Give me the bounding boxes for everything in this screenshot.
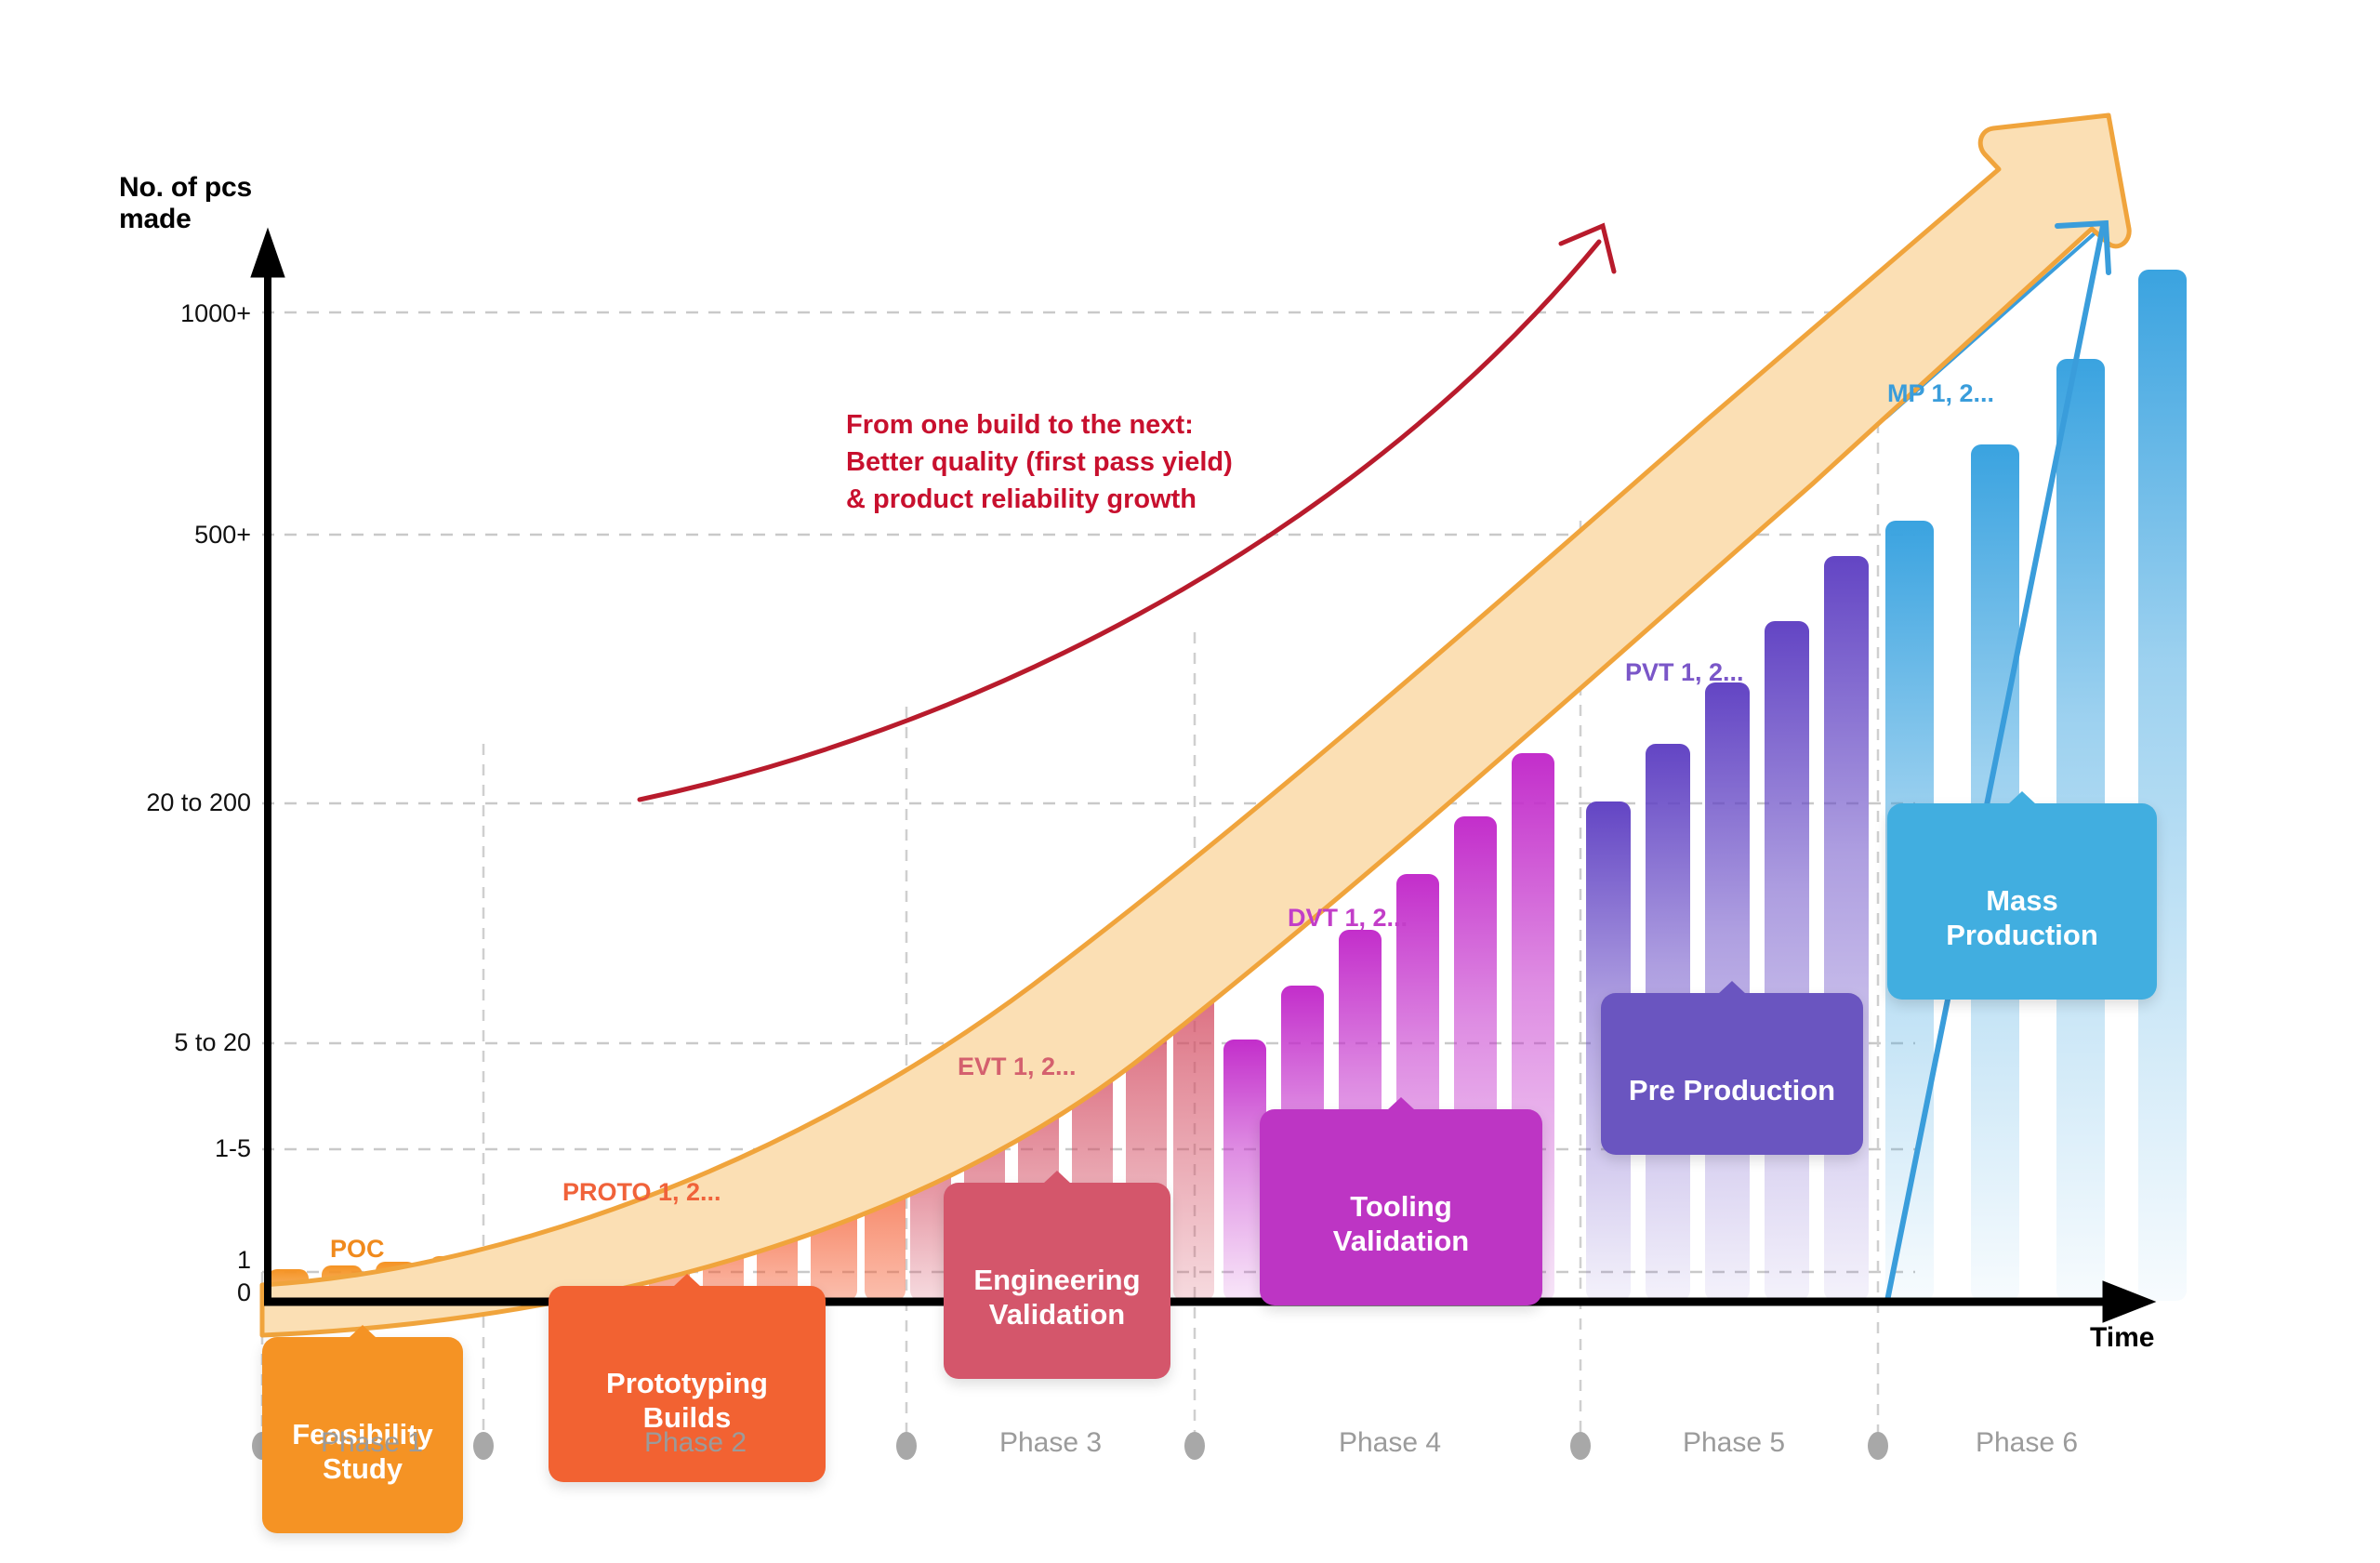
y-tick-20-200: 20 to 200 (84, 788, 251, 817)
callout-notch (1043, 1171, 1071, 1184)
infographic-canvas: No. of pcs made Time 1000+ 500+ 20 to 20… (0, 0, 2380, 1563)
phase-label-3: Phase 3 (958, 1427, 1144, 1459)
callout-pre-production[interactable]: Pre Production (1601, 993, 1863, 1155)
callout-notch (349, 1325, 377, 1338)
phase-label-5: Phase 5 (1641, 1427, 1827, 1459)
x-axis-title: Time (2090, 1322, 2154, 1354)
series-label-mp: MP 1, 2... (1887, 379, 1994, 408)
y-tick-1000: 1000+ (84, 299, 251, 328)
callout-notch (1387, 1097, 1415, 1110)
series-mp-bars (1885, 270, 2187, 1301)
series-label-dvt: DVT 1, 2... (1288, 904, 1408, 933)
callout-engineering-validation[interactable]: Engineering Validation (944, 1183, 1170, 1379)
series-label-poc: POC (330, 1235, 385, 1264)
phase-label-6: Phase 6 (1934, 1427, 2120, 1459)
callout-notch (673, 1274, 701, 1287)
callout-mass-production[interactable]: Mass Production (1887, 803, 2157, 1000)
series-label-proto: PROTO 1, 2... (562, 1178, 721, 1207)
callout-notch (1718, 981, 1746, 994)
series-label-pvt: PVT 1, 2... (1625, 658, 1744, 687)
phase-label-2: Phase 2 (602, 1427, 788, 1459)
series-label-evt: EVT 1, 2... (958, 1053, 1077, 1081)
callout-tooling-validation[interactable]: Tooling Validation (1260, 1109, 1542, 1305)
y-axis-title: No. of pcs made (119, 172, 342, 234)
phase-label-4: Phase 4 (1297, 1427, 1483, 1459)
callout-notch (2008, 791, 2036, 804)
y-tick-0: 0 (84, 1278, 251, 1307)
phase-label-1: Phase 1 (279, 1427, 465, 1459)
y-tick-1: 1 (84, 1246, 251, 1275)
y-tick-1-5: 1-5 (84, 1134, 251, 1163)
y-tick-500: 500+ (84, 521, 251, 550)
y-tick-5-20: 5 to 20 (84, 1028, 251, 1057)
quality-growth-annotation: From one build to the next: Better quali… (846, 406, 1233, 518)
